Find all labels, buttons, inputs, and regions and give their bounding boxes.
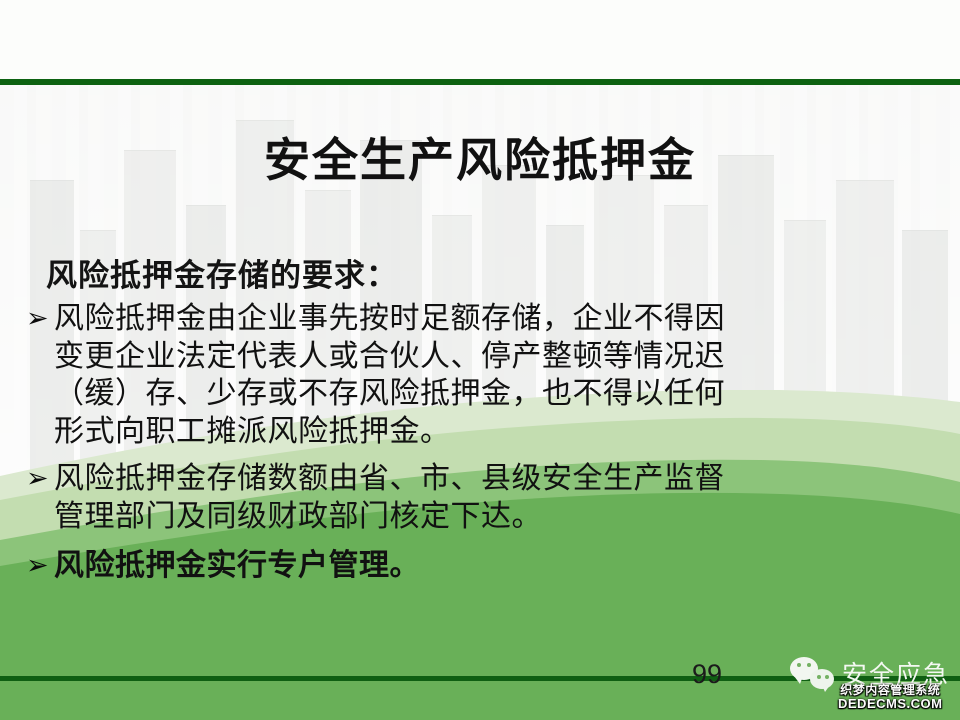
list-item: ➢ 风险抵押金实行专户管理。	[26, 547, 938, 585]
watermark: 织梦内容管理系统 DEDECMS.COM	[838, 684, 942, 710]
list-item-text: 风险抵押金实行专户管理。	[54, 547, 938, 585]
list-item-text: 风险抵押金存储数额由省、市、县级安全生产监督 管理部门及同级财政部门核定下达。	[54, 460, 938, 535]
bullet-line: 风险抵押金由企业事先按时足额存储，企业不得因	[54, 300, 938, 338]
slide-content: 安全生产风险抵押金 风险抵押金存储的要求： ➢ 风险抵押金由企业事先按时足额存储…	[0, 0, 960, 720]
bullet-list: ➢ 风险抵押金由企业事先按时足额存储，企业不得因 变更企业法定代表人或合伙人、停…	[26, 300, 938, 587]
bullet-line: 风险抵押金实行专户管理。	[54, 547, 938, 585]
watermark-en-text: DEDECMS.COM	[838, 697, 942, 711]
section-subtitle: 风险抵押金存储的要求：	[46, 250, 398, 295]
bullet-line: 风险抵押金存储数额由省、市、县级安全生产监督	[54, 460, 938, 498]
bullet-line: （缓）存、少存或不存风险抵押金，也不得以任何	[54, 375, 938, 413]
bullet-line: 变更企业法定代表人或合伙人、停产整顿等情况迟	[54, 338, 938, 376]
bullet-line: 形式向职工摊派风险抵押金。	[54, 413, 938, 451]
presentation-slide: 安全生产风险抵押金 风险抵押金存储的要求： ➢ 风险抵押金由企业事先按时足额存储…	[0, 0, 960, 720]
list-item: ➢ 风险抵押金存储数额由省、市、县级安全生产监督 管理部门及同级财政部门核定下达…	[26, 460, 938, 535]
arrow-bullet-icon: ➢	[26, 300, 54, 338]
page-number: 99	[692, 659, 722, 690]
page-title: 安全生产风险抵押金	[0, 124, 960, 190]
arrow-bullet-icon: ➢	[26, 547, 54, 585]
bullet-line: 管理部门及同级财政部门核定下达。	[54, 498, 938, 536]
wechat-icon	[790, 657, 834, 689]
list-item-text: 风险抵押金由企业事先按时足额存储，企业不得因 变更企业法定代表人或合伙人、停产整…	[54, 300, 938, 450]
watermark-cn-text: 织梦内容管理系统	[838, 684, 942, 697]
list-item: ➢ 风险抵押金由企业事先按时足额存储，企业不得因 变更企业法定代表人或合伙人、停…	[26, 300, 938, 450]
arrow-bullet-icon: ➢	[26, 460, 54, 498]
